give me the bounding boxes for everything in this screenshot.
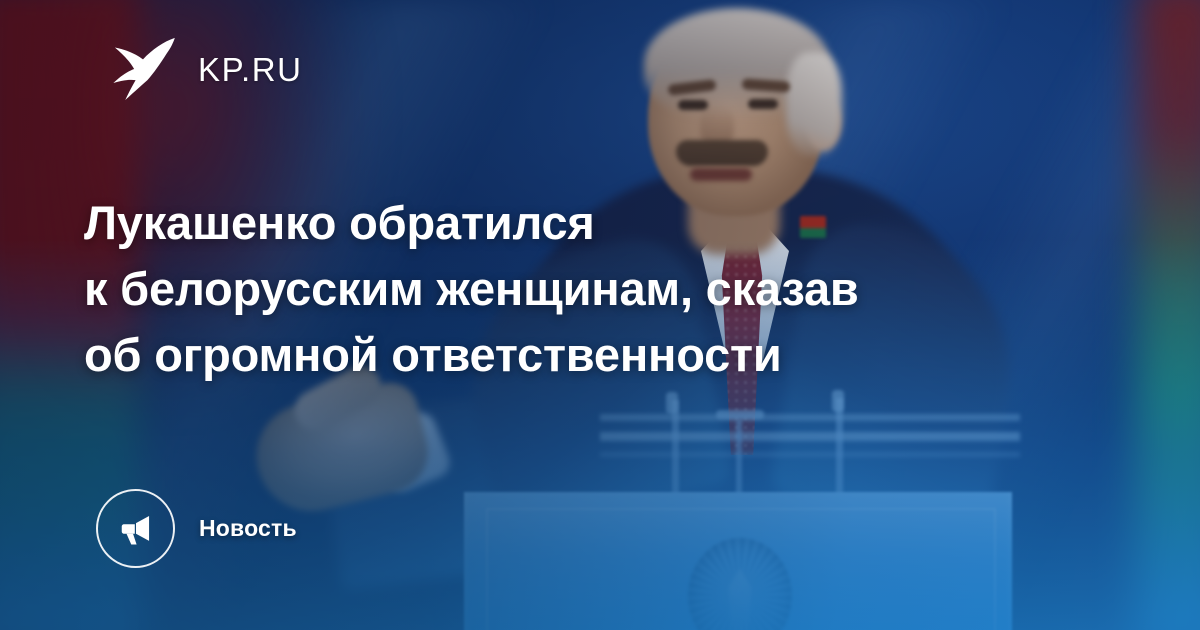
category-badge bbox=[96, 489, 175, 568]
category-label: Новость bbox=[199, 515, 297, 542]
megaphone-icon bbox=[117, 510, 155, 548]
brand-logo[interactable]: KP.RU bbox=[106, 32, 303, 106]
social-share-card: KP.RU Лукашенко обратился к белорусским … bbox=[0, 0, 1200, 630]
brand-name: KP.RU bbox=[198, 53, 303, 86]
headline-line-1: Лукашенко обратился bbox=[84, 190, 1094, 256]
category-tag[interactable]: Новость bbox=[96, 489, 297, 568]
headline-line-2: к белорусским женщинам, сказав bbox=[84, 256, 1094, 322]
page-title: Лукашенко обратился к белорусским женщин… bbox=[84, 190, 1094, 388]
card-content: KP.RU Лукашенко обратился к белорусским … bbox=[0, 0, 1200, 630]
swallow-bird-icon bbox=[106, 32, 180, 106]
headline-line-3: об огромной ответственности bbox=[84, 322, 1094, 388]
